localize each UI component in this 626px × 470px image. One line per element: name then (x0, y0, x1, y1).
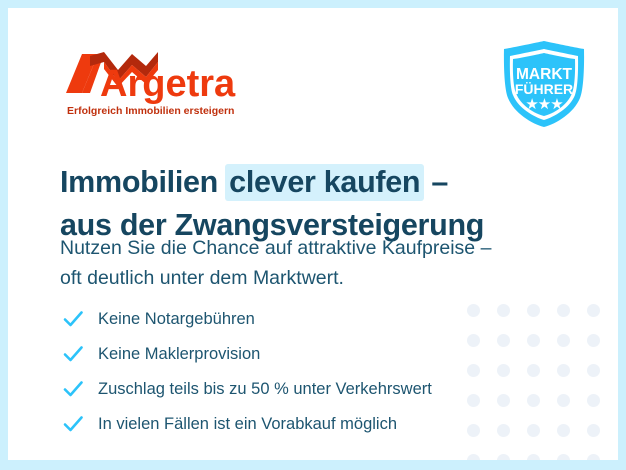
logo-tagline: Erfolgreich Immobilien ersteigern (67, 105, 234, 117)
argetra-logo: Argetra Erfolgreich Immobilien ersteiger… (60, 48, 260, 120)
dot (527, 424, 540, 437)
dot (587, 424, 600, 437)
badge-stars: ★★★ (525, 95, 563, 113)
dot (527, 364, 540, 377)
market-leader-badge: MARKT FÜHRER ★★★ (494, 38, 594, 130)
check-icon (62, 308, 84, 330)
list-item-label: Zuschlag teils bis zu 50 % unter Verkehr… (98, 381, 432, 398)
dot (557, 364, 570, 377)
list-item-label: Keine Maklerprovision (98, 346, 260, 363)
dot (497, 454, 510, 461)
dot (467, 454, 480, 461)
dot (557, 334, 570, 347)
list-item-label: Keine Notargebühren (98, 311, 255, 328)
dot (497, 364, 510, 377)
dot (587, 364, 600, 377)
dot (467, 304, 480, 317)
dot (527, 304, 540, 317)
subheadline: Nutzen Sie die Chance auf attraktive Kau… (60, 234, 491, 293)
check-icon (62, 343, 84, 365)
dot (467, 334, 480, 347)
banner-canvas: Argetra Erfolgreich Immobilien ersteiger… (8, 8, 618, 460)
dot-grid-decoration (458, 295, 608, 460)
subheadline-line2: oft deutlich unter dem Marktwert. (60, 264, 491, 294)
dot (497, 394, 510, 407)
dot (497, 424, 510, 437)
dot (557, 394, 570, 407)
subheadline-line1: Nutzen Sie die Chance auf attraktive Kau… (60, 234, 491, 264)
list-item: Zuschlag teils bis zu 50 % unter Verkehr… (62, 374, 432, 404)
headline-part1: Immobilien (60, 165, 226, 199)
dot (467, 364, 480, 377)
list-item: Keine Maklerprovision (62, 339, 432, 369)
check-icon (62, 378, 84, 400)
dot (527, 334, 540, 347)
dot (497, 304, 510, 317)
dot (467, 424, 480, 437)
dot (557, 304, 570, 317)
dot (497, 334, 510, 347)
dot (557, 424, 570, 437)
headline-part2: – (423, 165, 448, 199)
dot (587, 454, 600, 461)
dot (587, 304, 600, 317)
dot (467, 394, 480, 407)
promo-banner: Argetra Erfolgreich Immobilien ersteiger… (0, 0, 626, 470)
logo-wordmark: Argetra (100, 63, 236, 105)
dot (527, 394, 540, 407)
benefit-list: Keine Notargebühren Keine Maklerprovisio… (62, 304, 432, 444)
dot (557, 454, 570, 461)
dot (527, 454, 540, 461)
list-item: In vielen Fällen ist ein Vorabkauf mögli… (62, 409, 432, 439)
dot (587, 394, 600, 407)
check-icon (62, 413, 84, 435)
headline-highlight: clever kaufen (225, 164, 424, 201)
list-item: Keine Notargebühren (62, 304, 432, 334)
list-item-label: In vielen Fällen ist ein Vorabkauf mögli… (98, 416, 397, 433)
dot (587, 334, 600, 347)
